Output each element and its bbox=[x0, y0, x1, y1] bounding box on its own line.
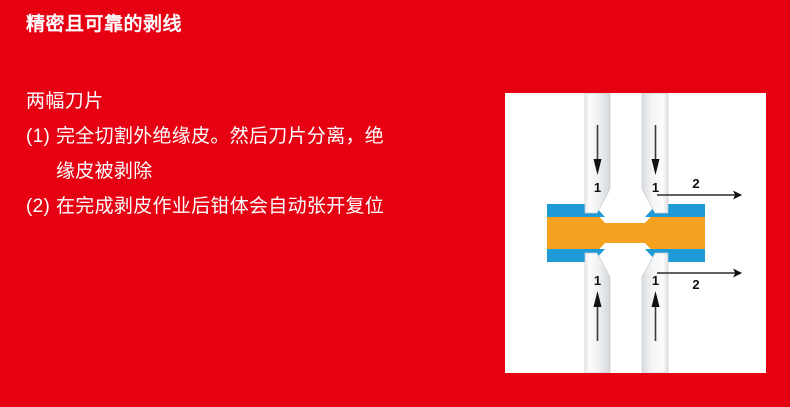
list-item: (1) 完全切割外绝缘皮。然后刀片分离，绝 bbox=[26, 119, 496, 154]
body-block: 两幅刀片 (1) 完全切割外绝缘皮。然后刀片分离，绝 缘皮被剥除 (2) 在完成… bbox=[26, 85, 496, 224]
blade-top-left: 1 bbox=[585, 93, 610, 213]
list-item: (2) 在完成剥皮作业后钳体会自动张开复位 bbox=[26, 189, 496, 224]
slide-root: 精密且可靠的剥线 两幅刀片 (1) 完全切割外绝缘皮。然后刀片分离，绝 缘皮被剥… bbox=[0, 0, 790, 407]
stripping-blades-diagram: 1 1 1 1 bbox=[505, 93, 766, 373]
list-item-marker: (2) bbox=[26, 189, 56, 224]
lead-line: 两幅刀片 bbox=[26, 85, 496, 119]
pull-arrow-label: 2 bbox=[692, 277, 699, 292]
blade-label: 1 bbox=[594, 273, 601, 288]
list-item-text: 完全切割外绝缘皮。然后刀片分离，绝 bbox=[56, 119, 496, 154]
blade-bottom-right: 1 bbox=[642, 253, 668, 373]
list-item-line: 完全切割外绝缘皮。然后刀片分离，绝 bbox=[56, 126, 384, 147]
list-item-continuation: 缘皮被剥除 bbox=[26, 154, 496, 189]
diagram-panel: 1 1 1 1 bbox=[505, 93, 766, 373]
page-title: 精密且可靠的剥线 bbox=[26, 12, 496, 38]
blade-label: 1 bbox=[652, 273, 659, 288]
list-item-text: 在完成剥皮作业后钳体会自动张开复位 bbox=[56, 189, 496, 224]
pull-arrow-label: 2 bbox=[692, 176, 699, 191]
list-item-text: 缘皮被剥除 bbox=[56, 154, 496, 189]
list-item-line: 在完成剥皮作业后钳体会自动张开复位 bbox=[56, 196, 384, 217]
blade-label: 1 bbox=[652, 180, 659, 195]
blade-label: 1 bbox=[594, 180, 601, 195]
blade-bottom-left: 1 bbox=[585, 253, 610, 373]
list-item-line: 缘皮被剥除 bbox=[56, 161, 153, 182]
list-item-marker: (1) bbox=[26, 119, 56, 154]
title-block: 精密且可靠的剥线 bbox=[26, 12, 496, 38]
